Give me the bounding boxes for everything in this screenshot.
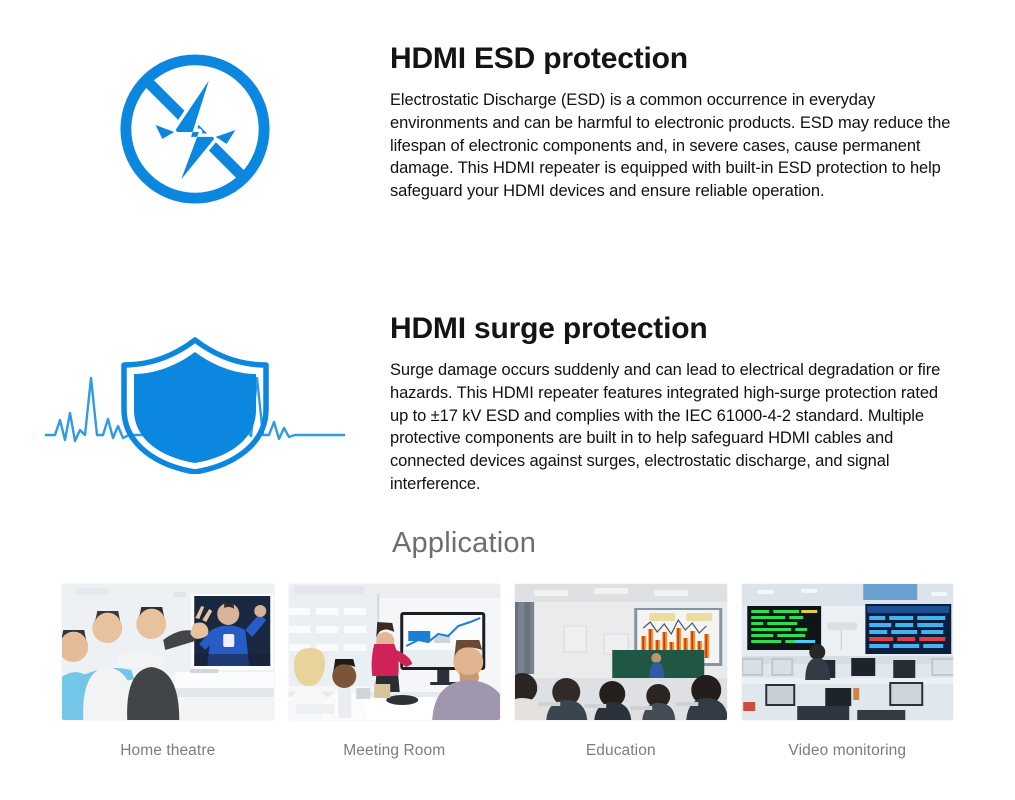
feature-block-esd-protection: HDMI ESD protection Electrostatic Discha…	[0, 42, 960, 208]
application-caption-video-monitoring: Video monitoring	[742, 742, 954, 760]
feature-body-esd: Electrostatic Discharge (ESD) is a commo…	[390, 89, 960, 203]
application-thumbnail-video-monitoring	[742, 584, 954, 720]
application-item-video-monitoring: Video monitoring	[742, 584, 954, 760]
feature-title-surge: HDMI surge protection	[390, 312, 960, 345]
no-esd-lightning-icon	[0, 42, 390, 208]
application-item-home-theatre: Home theatre	[62, 584, 274, 760]
feature-title-esd: HDMI ESD protection	[390, 42, 960, 75]
feature-body-surge: Surge damage occurs suddenly and can lea…	[390, 359, 960, 496]
application-grid: Home theatre	[0, 584, 1015, 760]
application-caption-education: Education	[515, 742, 727, 760]
application-item-meeting-room: Meeting Room	[289, 584, 501, 760]
application-item-education: Education	[515, 584, 727, 760]
feature-text-surge: HDMI surge protection Surge damage occur…	[390, 312, 960, 496]
feature-block-surge-protection: HDMI surge protection Surge damage occur…	[0, 312, 960, 496]
application-thumbnail-home-theatre	[62, 584, 274, 720]
application-thumbnail-meeting-room	[289, 584, 501, 720]
application-section: Application	[0, 528, 1015, 760]
shield-waveform-icon	[0, 312, 390, 474]
application-thumbnail-education	[515, 584, 727, 720]
application-caption-home-theatre: Home theatre	[62, 742, 274, 760]
application-caption-meeting-room: Meeting Room	[289, 742, 501, 760]
application-heading: Application	[0, 528, 1015, 560]
feature-text-esd: HDMI ESD protection Electrostatic Discha…	[390, 42, 960, 203]
